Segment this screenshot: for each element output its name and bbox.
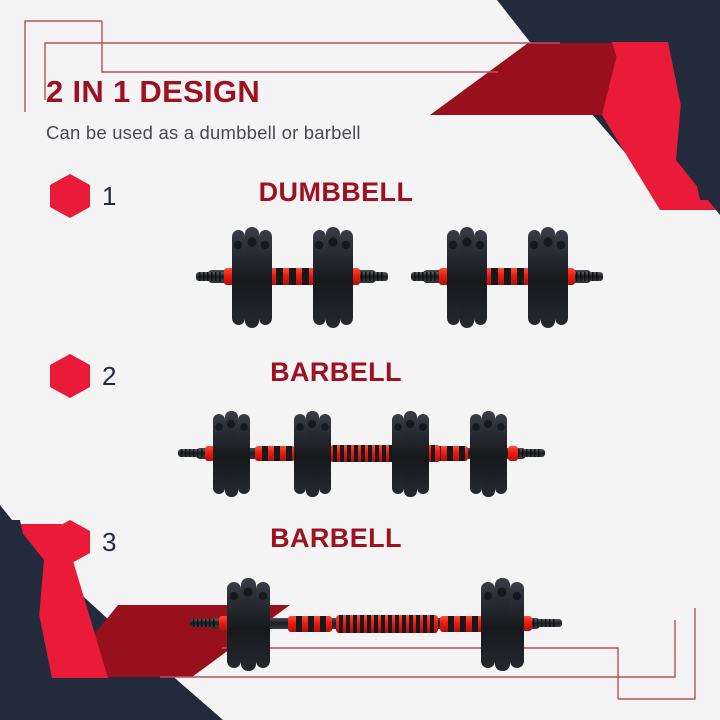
barbell-assembly <box>178 411 545 497</box>
barbell-two-clusters-illustration <box>0 564 720 684</box>
row-2-header: 2 BARBELL <box>0 352 720 398</box>
row-2-product-image <box>0 398 720 510</box>
grip-center <box>268 268 316 285</box>
top-right-navy-main <box>497 0 720 200</box>
bolt-left <box>196 272 226 281</box>
grip-right <box>440 616 484 632</box>
feature-row-3: 3 BARBELL <box>0 518 720 684</box>
page-title: 2 IN 1 DESIGN <box>46 76 516 109</box>
barbell-assembly <box>190 578 562 671</box>
plate-cluster-right <box>481 578 524 671</box>
row-3-product-image <box>0 564 720 684</box>
bolt-far-left <box>190 619 222 627</box>
dumbbell-right <box>411 227 603 328</box>
center-connector-bar <box>336 615 438 633</box>
grip-left <box>288 616 332 632</box>
feature-row-2: 2 BARBELL <box>0 352 720 510</box>
bolt-far-right <box>515 449 545 457</box>
top-right-navy-shape <box>497 0 720 170</box>
plate-cluster-3 <box>392 411 429 497</box>
grip-left-inner <box>255 446 295 461</box>
bolt-right <box>358 272 388 281</box>
page-subtitle: Can be used as a dumbbell or barbell <box>46 122 516 144</box>
bolt-left <box>411 272 441 281</box>
bolt-far-left <box>178 449 208 457</box>
plate-cluster-2 <box>294 411 331 497</box>
row-2-title: BARBELL <box>0 352 696 392</box>
barbell-four-clusters-illustration <box>0 398 720 510</box>
grip-center <box>483 268 531 285</box>
plate-cluster-left <box>232 227 272 328</box>
plate-cluster-4 <box>470 411 507 497</box>
plate-cluster-left <box>447 227 487 328</box>
frame-line-top-second <box>102 21 498 72</box>
header-block: 2 IN 1 DESIGN Can be used as a dumbbell … <box>46 76 516 144</box>
row-3-title: BARBELL <box>0 518 696 558</box>
plate-cluster-right <box>528 227 568 328</box>
row-1-title: DUMBBELL <box>0 172 696 212</box>
bolt-right <box>573 272 603 281</box>
plate-cluster-right <box>313 227 353 328</box>
dumbbell-left <box>196 227 388 328</box>
bolt-far-right <box>530 619 562 627</box>
row-1-header: 1 DUMBBELL <box>0 172 720 218</box>
plate-cluster-1 <box>213 411 250 497</box>
row-1-product-image <box>0 218 720 338</box>
plate-cluster-left <box>227 578 270 671</box>
row-3-header: 3 BARBELL <box>0 518 720 564</box>
feature-row-1: 1 DUMBBELL <box>0 172 720 338</box>
two-dumbbells-illustration <box>0 218 720 338</box>
